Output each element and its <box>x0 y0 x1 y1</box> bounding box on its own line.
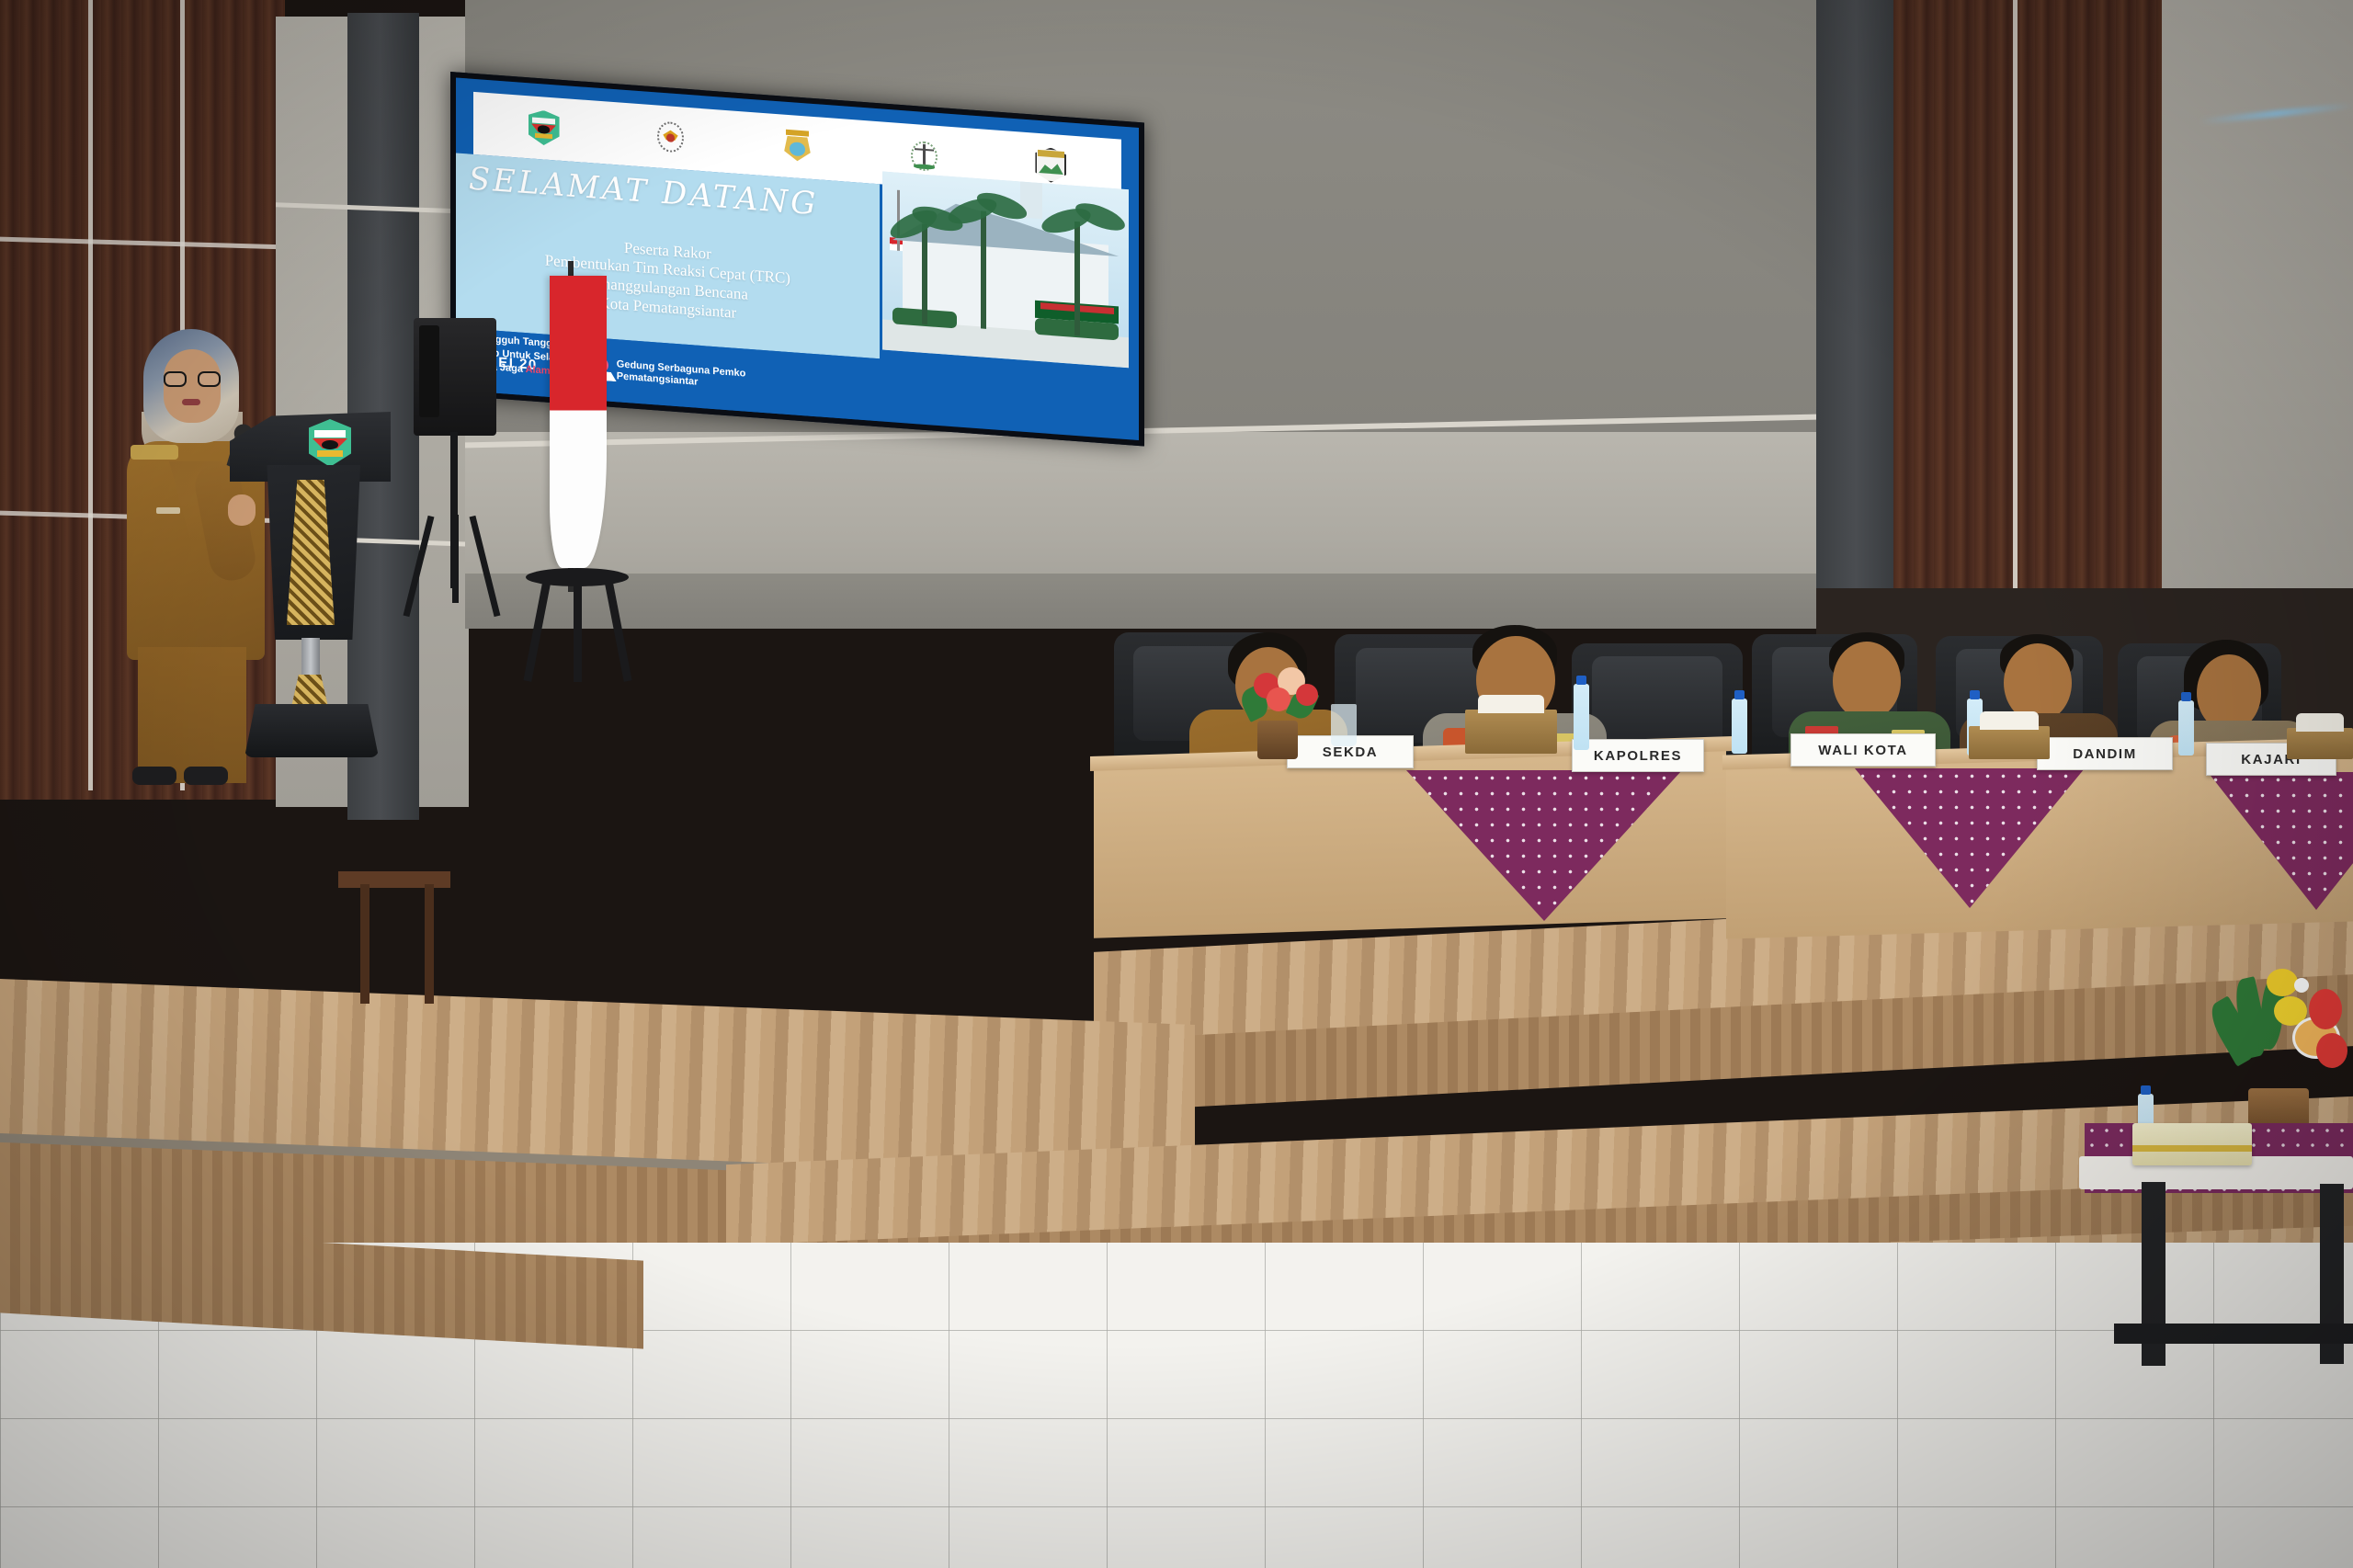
tissue-box <box>2287 728 2353 759</box>
front-flower-arrangement <box>2206 965 2353 1140</box>
rank-epaulette <box>131 445 178 460</box>
flag-stand <box>526 568 629 686</box>
kejaksaan-logo <box>908 137 939 174</box>
tissue-box <box>1465 710 1557 754</box>
slide-text-panel: SELAMAT DATANG Peserta Rakor Pembentukan… <box>456 153 880 358</box>
nameplate-dandim: DANDIM <box>2037 737 2173 770</box>
city-crest-emblem <box>309 419 351 467</box>
pa-loudspeaker <box>414 318 496 436</box>
presenter-shoe <box>184 767 228 785</box>
slide-subtitle: Peserta Rakor Pembentukan Tim Reaksi Cep… <box>456 226 880 334</box>
pematangsiantar-city-crest-logo <box>529 109 560 146</box>
speaker-grill <box>419 325 439 417</box>
balaikota-photo <box>882 172 1128 368</box>
side-table-leg <box>360 884 369 1004</box>
structural-column-right <box>1816 0 1904 662</box>
tissue-box <box>1969 726 2050 759</box>
water-bottle <box>1574 684 1589 750</box>
front-table-shelf <box>2114 1324 2353 1344</box>
presenter-shoe <box>132 767 176 785</box>
nameplate-wali-kota: WALI KOTA <box>1790 733 1936 767</box>
palm-trunk <box>922 224 927 324</box>
table-flower-vase-left <box>1226 662 1336 759</box>
speaker-tripod-leg <box>452 515 459 603</box>
wall-baseboard <box>465 574 1816 629</box>
polda-sumatera-utara-logo <box>781 128 813 165</box>
dprd-garuda-logo <box>655 119 687 155</box>
wall-seam <box>2013 0 2018 689</box>
water-bottle <box>2178 700 2194 756</box>
nameplate-kapolres: KAPOLRES <box>1572 739 1704 772</box>
drinking-glass <box>1331 704 1357 746</box>
wall-seam <box>88 0 93 790</box>
name-badge <box>156 507 180 514</box>
eyeglasses-icon <box>164 371 221 387</box>
presenter-mouth <box>182 399 200 405</box>
indonesian-flag <box>550 276 607 568</box>
gift-box <box>2132 1123 2252 1165</box>
side-table-leg <box>425 884 434 1004</box>
conference-hall-scene: SELAMAT DATANG Peserta Rakor Pembentukan… <box>0 0 2353 1568</box>
podium-base <box>244 704 379 757</box>
podium <box>230 412 391 798</box>
bpbd-logo <box>1035 146 1066 183</box>
palm-trunk <box>981 210 986 328</box>
water-bottle <box>1732 699 1747 754</box>
palm-trunk <box>1074 222 1080 335</box>
